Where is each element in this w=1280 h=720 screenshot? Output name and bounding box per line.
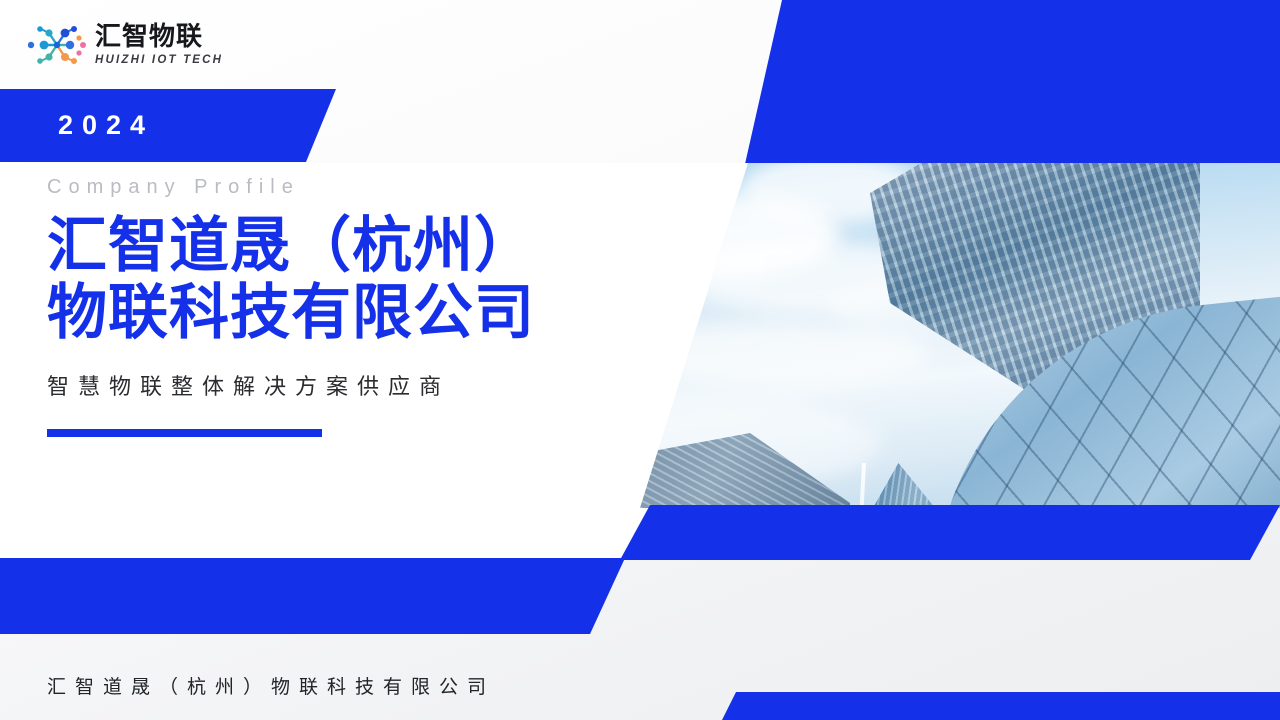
company-logo[interactable]: 汇智物联 HUIZHI IOT TECH xyxy=(28,22,223,68)
logo-chinese-name: 汇智物联 xyxy=(95,24,223,50)
network-molecule-icon xyxy=(28,22,86,68)
year-badge: 2024 xyxy=(0,89,340,162)
year-badge-label: 2024 xyxy=(58,110,154,141)
footer-company-name: 汇智道晟（杭州）物联科技有限公司 xyxy=(47,672,495,699)
hero-text-block: Company Profile 汇智道晟（杭州） 物联科技有限公司 智慧物联整体… xyxy=(47,176,667,437)
accent-shape-mid-band xyxy=(620,505,1280,560)
accent-shape-bottom-right xyxy=(700,692,1280,720)
page-title: 汇智道晟（杭州） 物联科技有限公司 xyxy=(47,213,667,347)
logo-english-name: HUIZHI IOT TECH xyxy=(95,55,223,67)
hero-subtitle: 智慧物联整体解决方案供应商 xyxy=(47,369,667,401)
accent-shape-bottom-left xyxy=(0,558,625,634)
eyebrow-label: Company Profile xyxy=(47,176,667,199)
accent-rule xyxy=(47,429,322,437)
accent-shape-top-right xyxy=(700,0,1280,164)
logo-wordmark: 汇智物联 HUIZHI IOT TECH xyxy=(95,24,223,67)
title-slide: 汇智物联 HUIZHI IOT TECH 2024 Company Profil… xyxy=(0,0,1280,720)
